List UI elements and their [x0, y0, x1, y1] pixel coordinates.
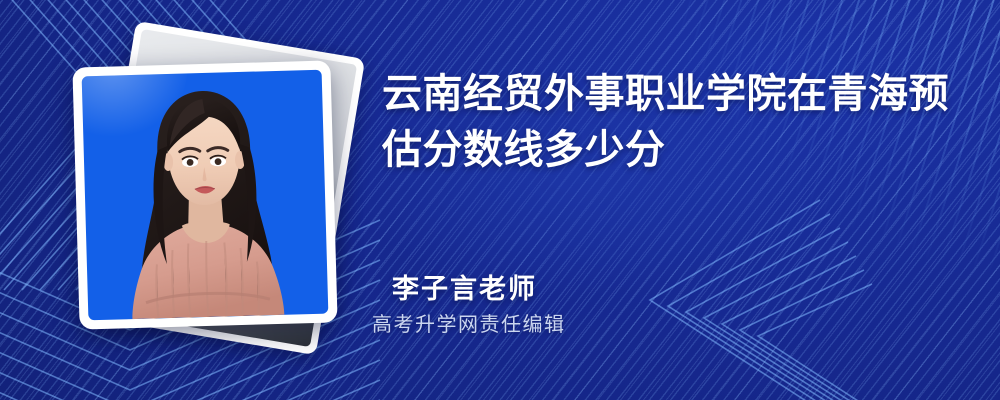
photo-stack [52, 30, 352, 370]
article-cover-banner: 云南经贸外事职业学院在青海预估分数线多少分 李子言老师 高考升学网责任编辑 [0, 0, 1000, 400]
person-portrait-icon [82, 70, 329, 321]
page-title: 云南经贸外事职业学院在青海预估分数线多少分 [382, 66, 972, 178]
avatar [72, 60, 337, 329]
byline: 李子言老师 高考升学网责任编辑 [392, 272, 912, 338]
portrait-photo [82, 70, 329, 321]
author-role: 高考升学网责任编辑 [372, 312, 912, 338]
author-name: 李子言老师 [392, 272, 912, 306]
